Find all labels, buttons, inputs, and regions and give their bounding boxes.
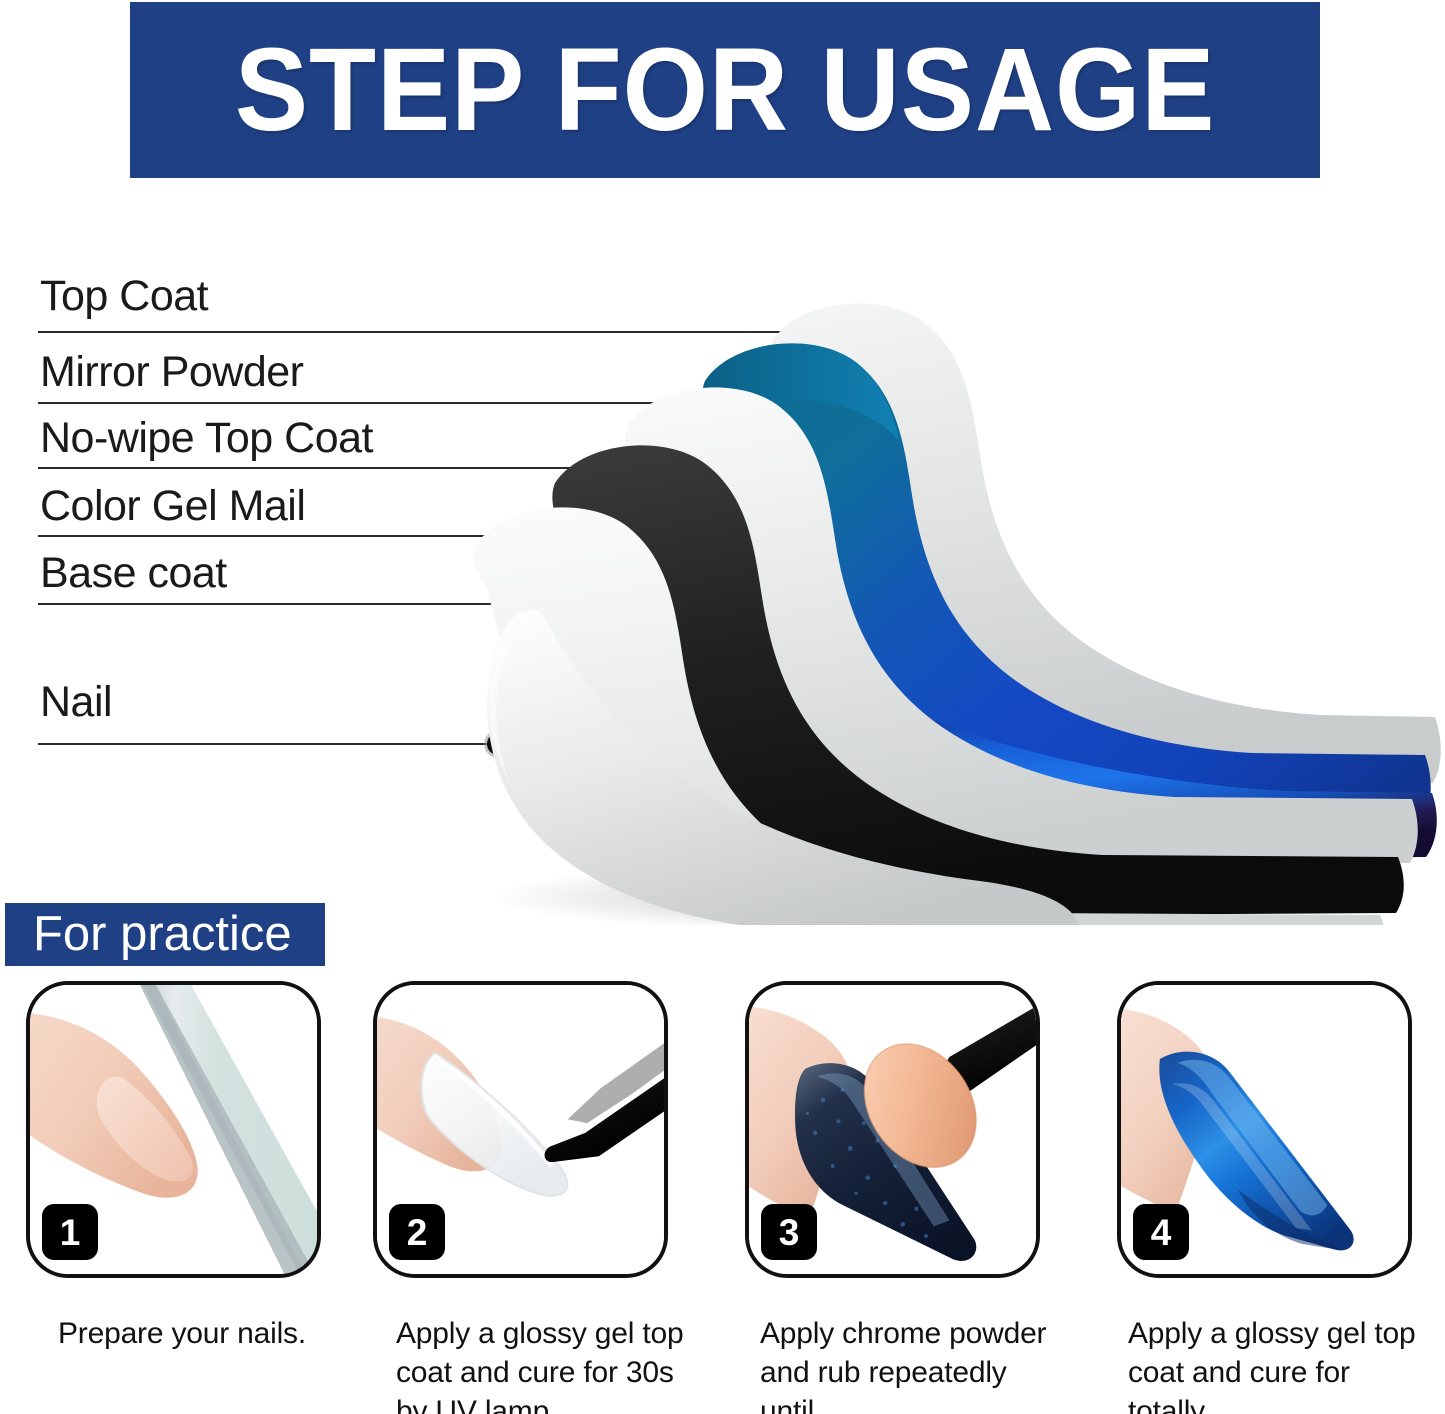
- step-number-badge: 2: [389, 1204, 445, 1260]
- layer-label-text: No-wipe Top Coat: [40, 414, 373, 463]
- layer-label-text: Color Gel Mail: [40, 482, 305, 531]
- step-caption-2: Apply a glossy gel top coat and cure for…: [396, 1314, 686, 1414]
- title-banner: STEP FOR USAGE: [130, 2, 1320, 178]
- practice-panel-4: 4: [1117, 981, 1412, 1278]
- practice-panel-2: 2: [373, 981, 668, 1278]
- step-caption-1: Prepare your nails.: [58, 1314, 328, 1353]
- page-title: STEP FOR USAGE: [235, 31, 1216, 149]
- nail-layer-stack-illustration: [380, 285, 1445, 925]
- step-number-badge: 4: [1133, 1204, 1189, 1260]
- practice-panel-3: 3: [745, 981, 1040, 1278]
- step-number-badge: 3: [761, 1204, 817, 1260]
- step-number-badge: 1: [42, 1204, 98, 1260]
- layer-label-text: Top Coat: [40, 272, 208, 321]
- infographic-page: STEP FOR USAGE Top Coat Mirror Powder No…: [0, 0, 1445, 1414]
- step-caption-4: Apply a glossy gel top coat and cure for…: [1128, 1314, 1428, 1414]
- for-practice-badge: For practice: [5, 903, 325, 966]
- layer-label-text: Nail: [40, 678, 112, 727]
- layer-label-text: Base coat: [40, 549, 227, 598]
- for-practice-label: For practice: [33, 910, 292, 959]
- practice-panel-1: 1: [26, 981, 321, 1278]
- layer-label-text: Mirror Powder: [40, 348, 304, 397]
- step-caption-3: Apply chrome powder and rub repeatedly u…: [760, 1314, 1060, 1414]
